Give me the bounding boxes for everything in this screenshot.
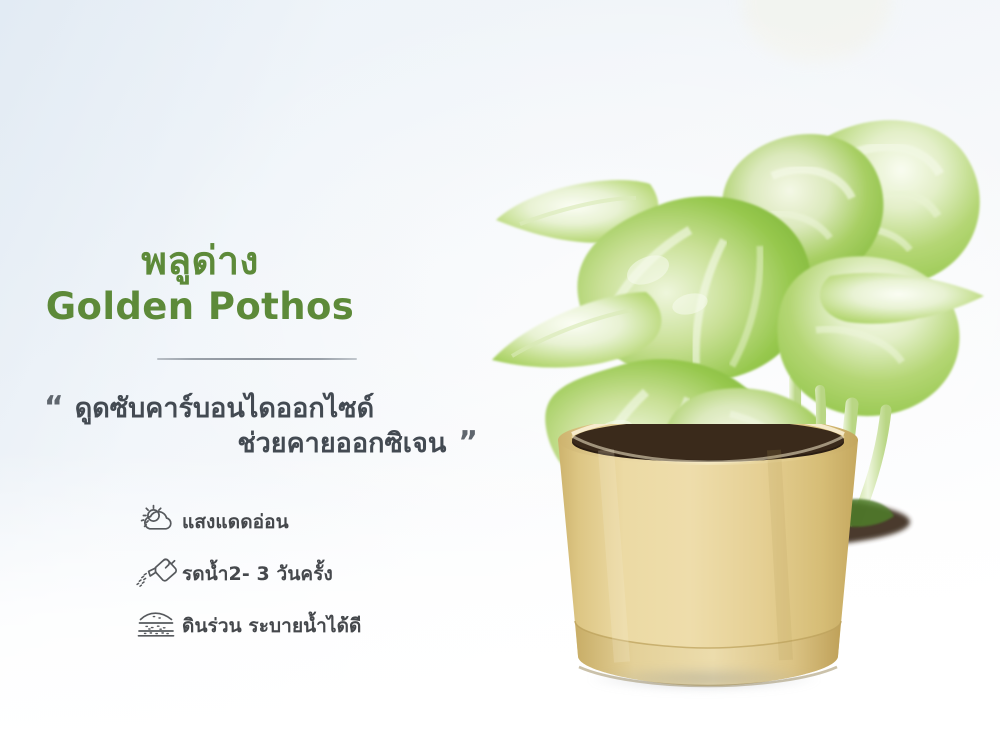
title-block: พลูด่าง Golden Pothos: [0, 240, 400, 328]
quote-block: “ ดูดซับคาร์บอนไดออกไซด์ ช่วยคายออกซิเจน…: [40, 392, 500, 461]
plant-name-english: Golden Pothos: [0, 286, 400, 329]
care-label-soil: ดินร่วน ระบายน้ำได้ดี: [182, 611, 361, 641]
care-item-sunlight: แสงแดดอ่อน: [130, 497, 490, 547]
care-label-sunlight: แสงแดดอ่อน: [182, 507, 289, 537]
watering-can-icon: [130, 555, 182, 593]
soil-layers-icon: [130, 610, 182, 642]
sun-behind-cloud-icon: [130, 504, 182, 540]
plant-pot: [548, 424, 868, 699]
text-column: พลูด่าง Golden Pothos “ ดูดซับคาร์บอนไดอ…: [0, 0, 520, 750]
care-item-soil: ดินร่วน ระบายน้ำได้ดี: [130, 601, 490, 651]
care-item-watering: รดน้ำ2- 3 วันครั้ง: [130, 549, 490, 599]
quote-text-line-1: ดูดซับคาร์บอนไดออกไซด์: [75, 392, 374, 427]
quote-open-mark: “: [44, 393, 64, 423]
pot-shadow: [554, 662, 854, 696]
quote-line-1: “ ดูดซับคาร์บอนไดออกไซด์: [40, 392, 500, 427]
divider-line: [157, 358, 357, 360]
plant-name-thai: พลูด่าง: [0, 240, 400, 284]
care-instruction-list: แสงแดดอ่อน: [130, 497, 490, 653]
care-label-watering: รดน้ำ2- 3 วันครั้ง: [182, 559, 333, 589]
quote-line-2: ช่วยคายออกซิเจน ”: [40, 427, 500, 462]
plant-info-card: พลูด่าง Golden Pothos “ ดูดซับคาร์บอนไดอ…: [0, 0, 1000, 750]
quote-text-line-2: ช่วยคายออกซิเจน: [237, 427, 446, 462]
quote-close-mark: ”: [458, 428, 478, 458]
